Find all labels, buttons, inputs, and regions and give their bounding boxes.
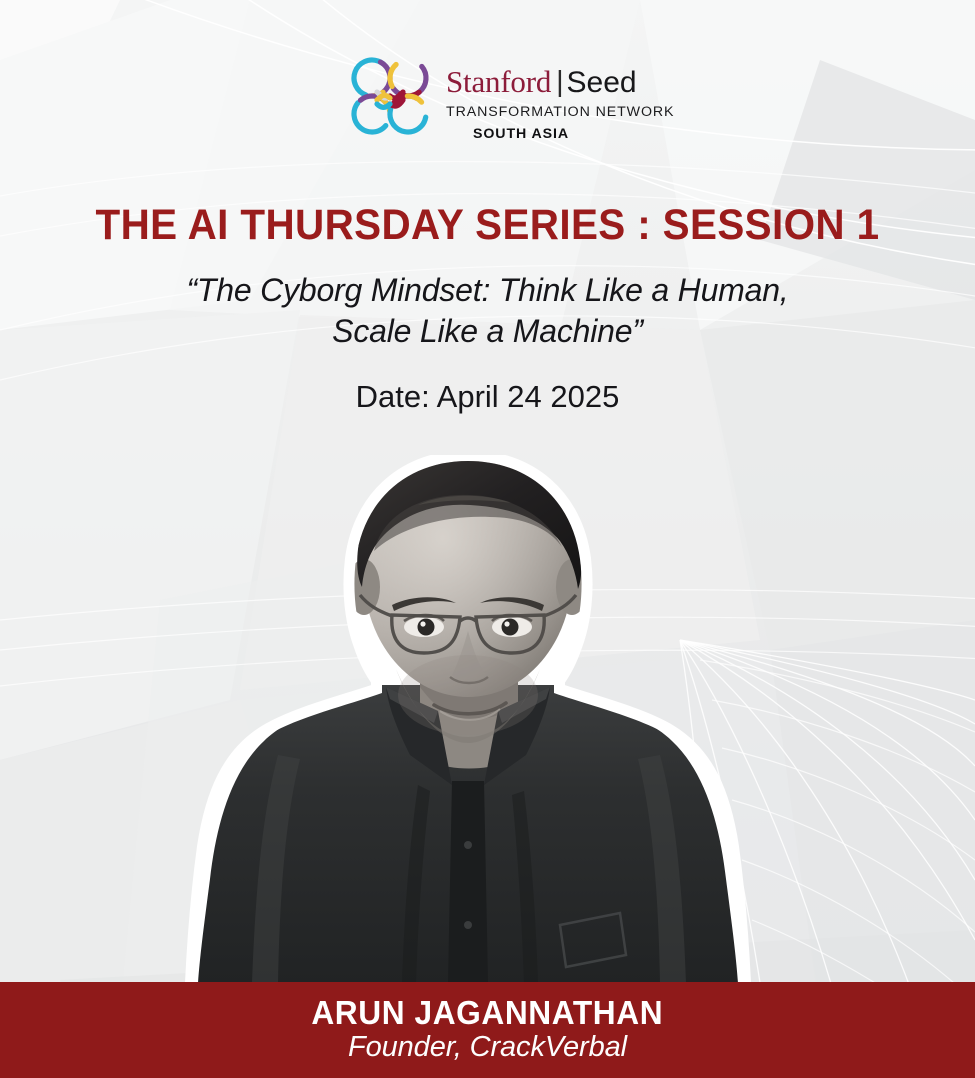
logo-word-seed: Seed [567,66,637,99]
stanford-seed-logo: Stanford|Seed TRANSFORMATION NETWORK SOU… [347,52,674,152]
speaker-banner: ARUN JAGANNATHAN Founder, CrackVerbal [0,982,975,1078]
headline-block: THE AI THURSDAY SERIES : SESSION 1 “The … [0,203,975,415]
session-subtitle: “The Cyborg Mindset: Think Like a Human,… [0,270,975,352]
logo-wordmark: Stanford|Seed [446,66,674,98]
speaker-portrait [168,455,768,983]
event-poster: Stanford|Seed TRANSFORMATION NETWORK SOU… [0,0,975,1078]
logo-tagline-network: TRANSFORMATION NETWORK [446,104,674,120]
logo-word-stanford: Stanford [446,64,551,99]
event-date: Date: April 24 2025 [0,379,975,415]
speaker-name: ARUN JAGANNATHAN [312,996,664,1031]
page-title: THE AI THURSDAY SERIES : SESSION 1 [29,203,946,248]
session-subtitle-line-2: Scale Like a Machine” [0,311,975,352]
logo-wordmark-group: Stanford|Seed TRANSFORMATION NETWORK SOU… [446,63,674,142]
speaker-role: Founder, CrackVerbal [348,1032,627,1064]
logo-tagline-region: SOUTH ASIA [473,126,674,142]
stanford-seed-four-ring-mark [347,52,433,152]
speaker-portrait-image [168,455,768,983]
session-subtitle-line-1: “The Cyborg Mindset: Think Like a Human, [0,270,975,311]
logo-divider: | [551,66,566,98]
